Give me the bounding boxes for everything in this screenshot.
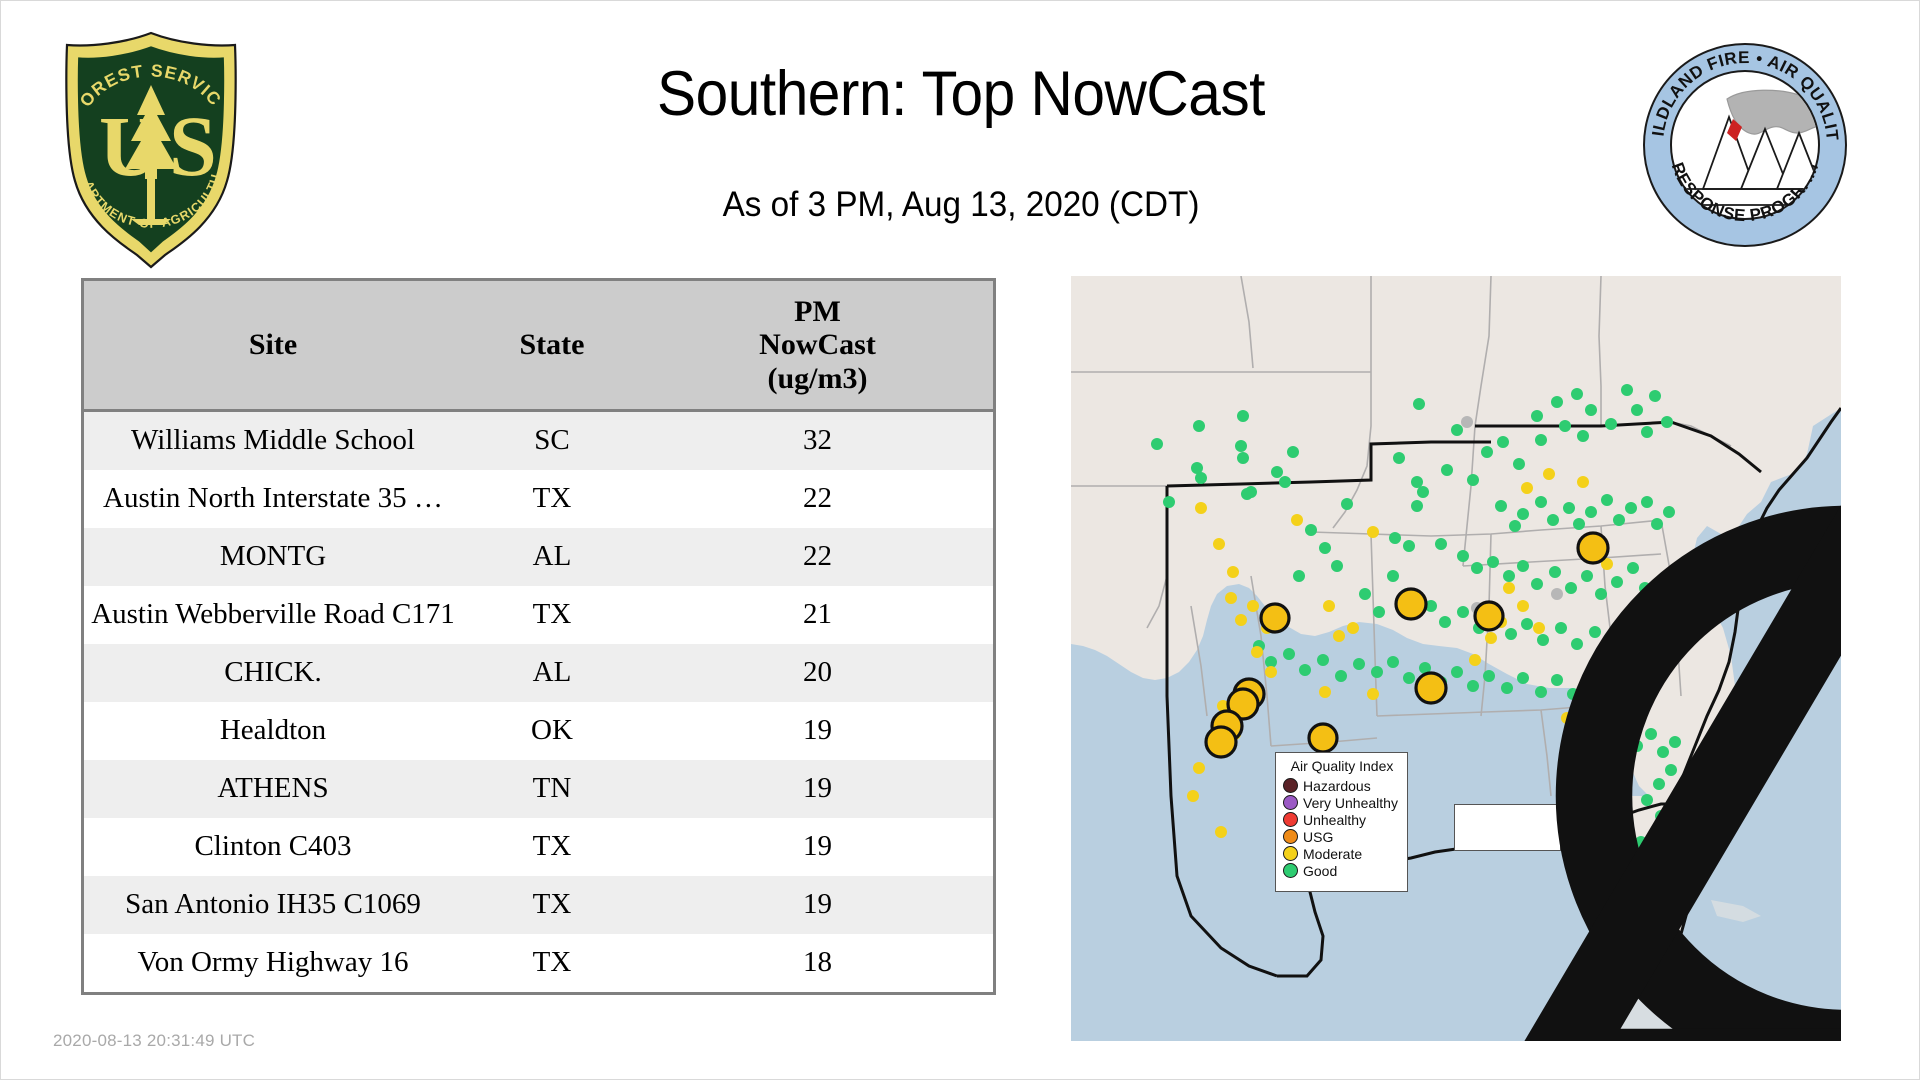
pm-cell: 22 — [642, 470, 993, 528]
triangle-icon — [1461, 455, 1841, 1041]
table-row[interactable]: Austin Webberville Road C171TX21 — [84, 586, 993, 644]
column-header-pm-line3: (ug/m3) — [642, 362, 993, 396]
table-body: Williams Middle SchoolSC32Austin North I… — [84, 411, 993, 993]
aqi-legend-swatch-icon — [1283, 829, 1298, 844]
site-cell: MONTG — [84, 528, 462, 586]
aqi-legend-swatch-icon — [1283, 863, 1298, 878]
aqi-legend-swatch-icon — [1283, 812, 1298, 827]
site-type-legend: temporary permanent — [1454, 804, 1561, 851]
top-site-marker-healdton — [1261, 604, 1289, 632]
aqi-legend-item: USG — [1283, 828, 1401, 845]
top-site-marker-clinton — [1309, 724, 1337, 752]
table-row[interactable]: San Antonio IH35 C1069TX19 — [84, 876, 993, 934]
aqi-legend-label: Good — [1303, 864, 1337, 878]
generated-timestamp: 2020-08-13 20:31:49 UTC — [53, 1031, 255, 1051]
table-header-row: Site State PM NowCast (ug/m3) — [84, 281, 993, 411]
top-site-marker-athens — [1396, 589, 1426, 619]
top-site-marker-von-ormy — [1206, 727, 1236, 757]
aqi-legend-swatch-icon — [1283, 795, 1298, 810]
page-title: Southern: Top NowCast — [347, 63, 1575, 126]
table-row[interactable]: Williams Middle SchoolSC32 — [84, 411, 993, 471]
aqi-legend-item: Moderate — [1283, 845, 1401, 862]
aqi-legend-item: Good — [1283, 862, 1401, 879]
state-cell: TX — [462, 934, 642, 992]
aqi-legend-items: HazardousVery UnhealthyUnhealthyUSGModer… — [1283, 777, 1401, 879]
wfaqrp-seal-logo: WILDLAND FIRE • AIR QUALITY RESPONSE PRO… — [1641, 41, 1849, 249]
aqi-legend-item: Unhealthy — [1283, 811, 1401, 828]
column-header-site[interactable]: Site — [84, 281, 462, 411]
page-subtitle: As of 3 PM, Aug 13, 2020 (CDT) — [334, 187, 1588, 222]
column-header-state[interactable]: State — [462, 281, 642, 411]
table-row[interactable]: MONTGAL22 — [84, 528, 993, 586]
slide-canvas: FOREST SERVICE U S DEPARTMENT OF AGRICUL… — [0, 0, 1920, 1080]
column-header-pm-line2: NowCast — [642, 328, 993, 362]
site-cell: Williams Middle School — [84, 411, 462, 471]
aqi-legend: Air Quality Index HazardousVery Unhealth… — [1275, 752, 1408, 892]
usda-forest-service-shield-logo: FOREST SERVICE U S DEPARTMENT OF AGRICUL… — [53, 29, 249, 269]
top-site-marker-montg — [1416, 673, 1446, 703]
table-row[interactable]: HealdtonOK19 — [84, 702, 993, 760]
column-header-pm-line1: PM — [642, 295, 993, 329]
site-cell: Healdton — [84, 702, 462, 760]
site-cell: Austin Webberville Road C171 — [84, 586, 462, 644]
table-row[interactable]: CHICK.AL20 — [84, 644, 993, 702]
site-type-legend-item-permanent: permanent — [1461, 828, 1556, 847]
top-nowcast-table-container: Site State PM NowCast (ug/m3) Williams M… — [81, 278, 996, 995]
state-cell: AL — [462, 644, 642, 702]
state-cell: TN — [462, 760, 642, 818]
site-cell: CHICK. — [84, 644, 462, 702]
pm-cell: 20 — [642, 644, 993, 702]
state-cell: OK — [462, 702, 642, 760]
site-cell: San Antonio IH35 C1069 — [84, 876, 462, 934]
top-nowcast-table: Site State PM NowCast (ug/m3) Williams M… — [84, 281, 993, 992]
site-cell: ATHENS — [84, 760, 462, 818]
pm-cell: 19 — [642, 818, 993, 876]
pm-cell: 32 — [642, 411, 993, 471]
table-row[interactable]: Von Ormy Highway 16TX18 — [84, 934, 993, 992]
aqi-legend-label: Hazardous — [1303, 779, 1371, 793]
pm-cell: 18 — [642, 934, 993, 992]
pm-cell: 22 — [642, 528, 993, 586]
column-header-pm-nowcast[interactable]: PM NowCast (ug/m3) — [642, 281, 993, 411]
pm-cell: 19 — [642, 876, 993, 934]
table-head: Site State PM NowCast (ug/m3) — [84, 281, 993, 411]
aqi-legend-swatch-icon — [1283, 846, 1298, 861]
site-cell: Clinton C403 — [84, 818, 462, 876]
table-row[interactable]: ATHENSTN19 — [84, 760, 993, 818]
aqi-legend-title: Air Quality Index — [1283, 758, 1401, 774]
pm-cell: 21 — [642, 586, 993, 644]
aqi-legend-swatch-icon — [1283, 778, 1298, 793]
state-cell: TX — [462, 470, 642, 528]
aqi-legend-label: USG — [1303, 830, 1333, 844]
pm-cell: 19 — [642, 760, 993, 818]
table-row[interactable]: Austin North Interstate 35 …TX22 — [84, 470, 993, 528]
state-cell: SC — [462, 411, 642, 471]
aqi-legend-label: Unhealthy — [1303, 813, 1366, 827]
pm-cell: 19 — [642, 702, 993, 760]
aqi-legend-label: Very Unhealthy — [1303, 796, 1398, 810]
site-cell: Austin North Interstate 35 … — [84, 470, 462, 528]
site-cell: Von Ormy Highway 16 — [84, 934, 462, 992]
state-cell: TX — [462, 818, 642, 876]
state-cell: AL — [462, 528, 642, 586]
state-cell: TX — [462, 876, 642, 934]
table-row[interactable]: Clinton C403TX19 — [84, 818, 993, 876]
aqi-legend-item: Hazardous — [1283, 777, 1401, 794]
aqi-legend-label: Moderate — [1303, 847, 1362, 861]
aqi-monitor-map[interactable]: Air Quality Index HazardousVery Unhealth… — [1071, 276, 1841, 1041]
state-cell: TX — [462, 586, 642, 644]
aqi-legend-item: Very Unhealthy — [1283, 794, 1401, 811]
